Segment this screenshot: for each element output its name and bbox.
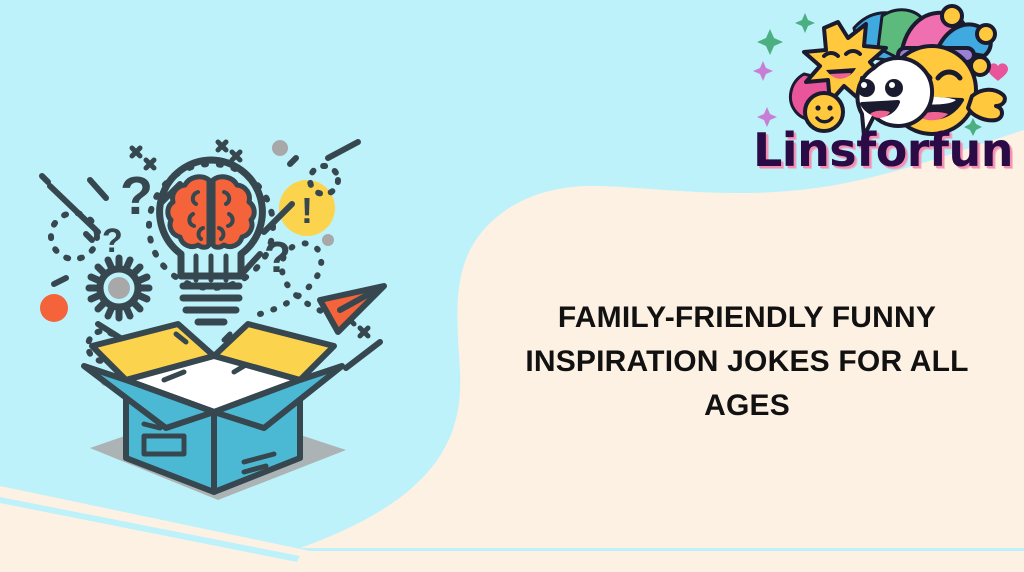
gear-icon [89,258,149,318]
blog-banner: ? ? ? [0,0,1024,572]
page-title: FAMILY-FRIENDLY FUNNY INSPIRATION JOKES … [487,296,1007,428]
lightbulb-with-brain [149,160,273,322]
gray-dot-top-right [272,140,288,156]
orange-dot [40,294,68,322]
open-box [84,324,342,492]
question-mark-right: ? [264,233,291,282]
svg-text:!: ! [301,190,313,231]
gray-dot-mid-right [322,234,334,246]
site-logo[interactable]: Linsforfun [742,4,1024,190]
logo-wordmark: Linsforfun [742,124,1024,176]
logo-emoji-mark [742,4,1024,136]
idea-box-illustration: ? ? ? [28,128,394,500]
headline-container: FAMILY-FRIENDLY FUNNY INSPIRATION JOKES … [487,296,1007,428]
question-mark-large: ? [120,166,153,226]
question-mark-small: ? [102,222,123,260]
